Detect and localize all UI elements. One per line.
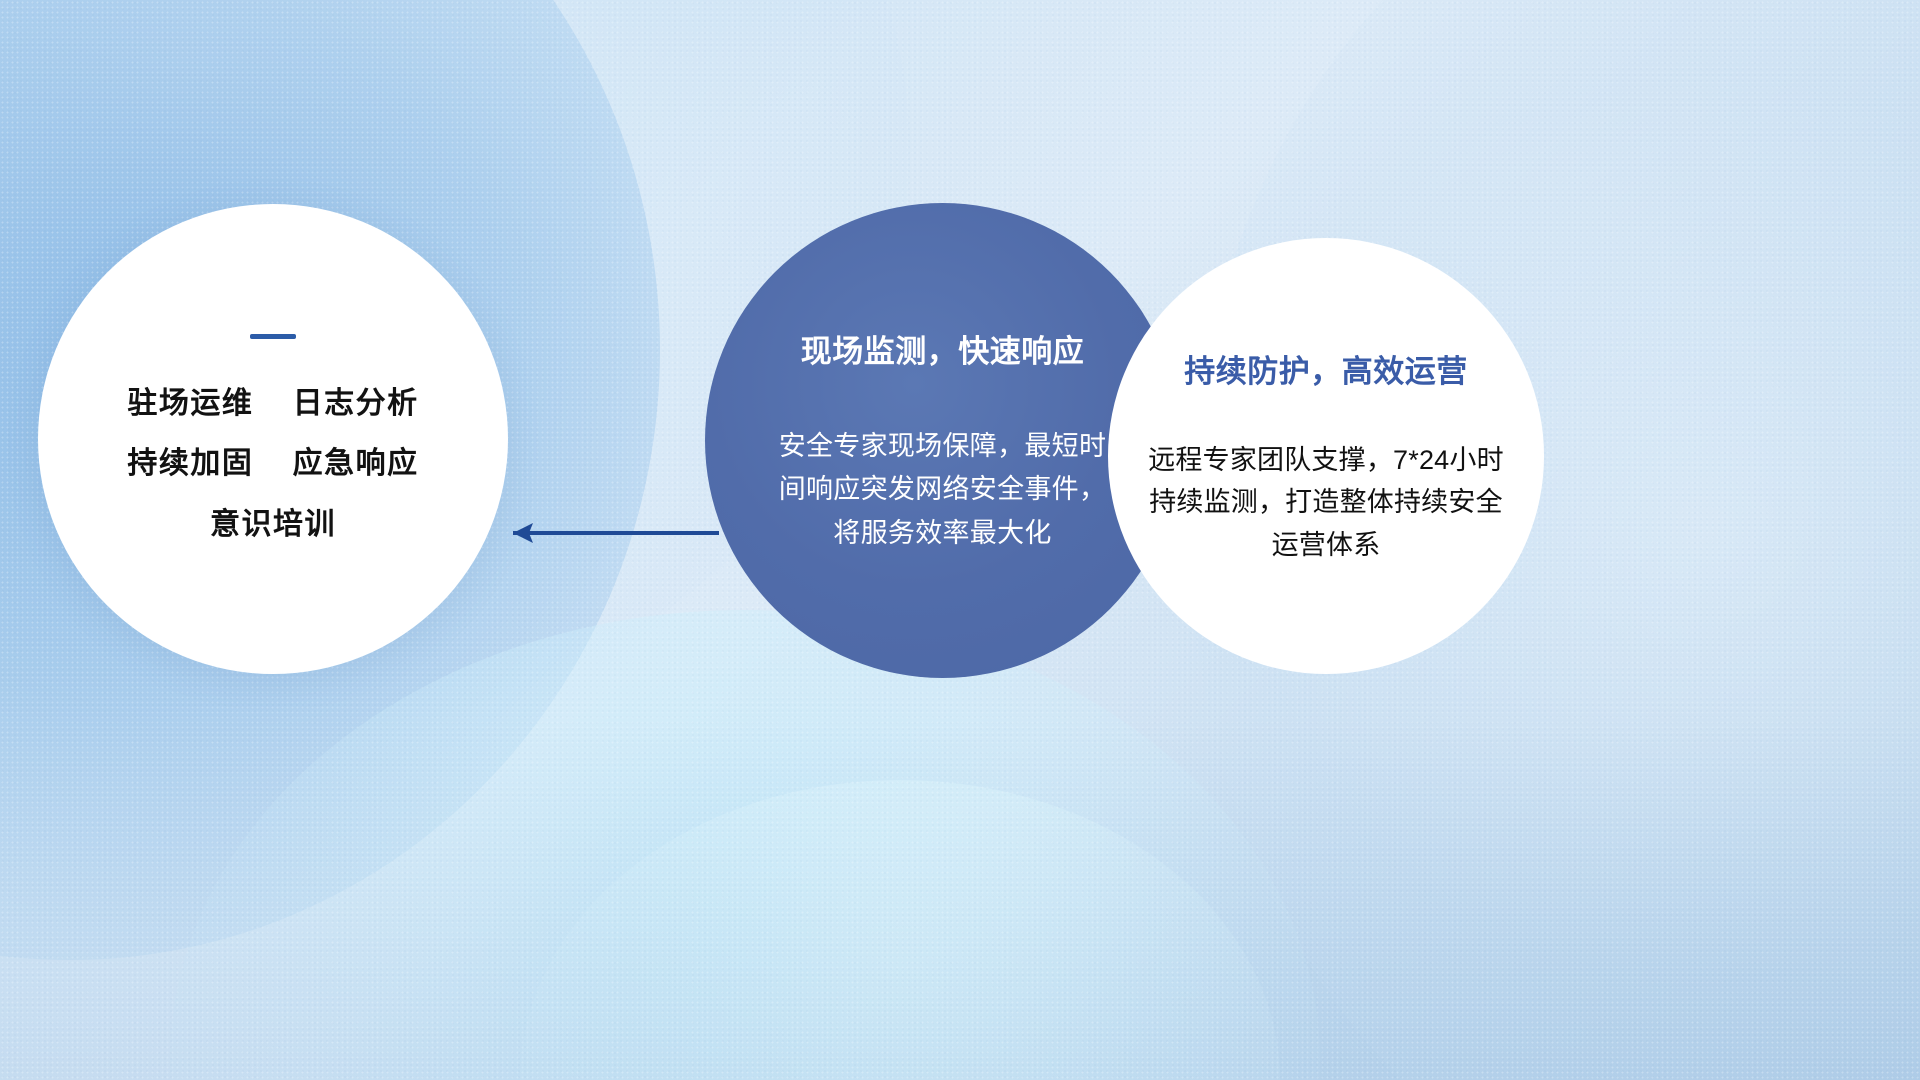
continuous-protection-circle: 持续防护，高效运营 远程专家团队支撑，7*24小时持续监测，打造整体持续安全运营…	[1108, 238, 1544, 674]
infographic-canvas: 驻场运维 日志分析 持续加固 应急响应 意识培训 现场监测，快速响应 安全专家现…	[0, 0, 1920, 1080]
continuous-protection-title: 持续防护，高效运营	[1184, 346, 1468, 391]
capability-line-3: 意识培训	[210, 506, 336, 544]
continuous-protection-body: 远程专家团队支撑，7*24小时持续监测，打造整体持续安全运营体系	[1145, 439, 1507, 567]
onsite-monitoring-title: 现场监测，快速响应	[801, 326, 1085, 371]
divider-dash	[250, 334, 296, 339]
arrow-left-icon	[487, 518, 722, 548]
capabilities-circle: 驻场运维 日志分析 持续加固 应急响应 意识培训	[38, 204, 508, 674]
capability-line-2: 持续加固 应急响应	[127, 445, 418, 483]
onsite-monitoring-body: 安全专家现场保障，最短时间响应突发网络安全事件，将服务效率最大化	[778, 425, 1108, 555]
capability-line-1: 驻场运维 日志分析	[127, 385, 418, 423]
